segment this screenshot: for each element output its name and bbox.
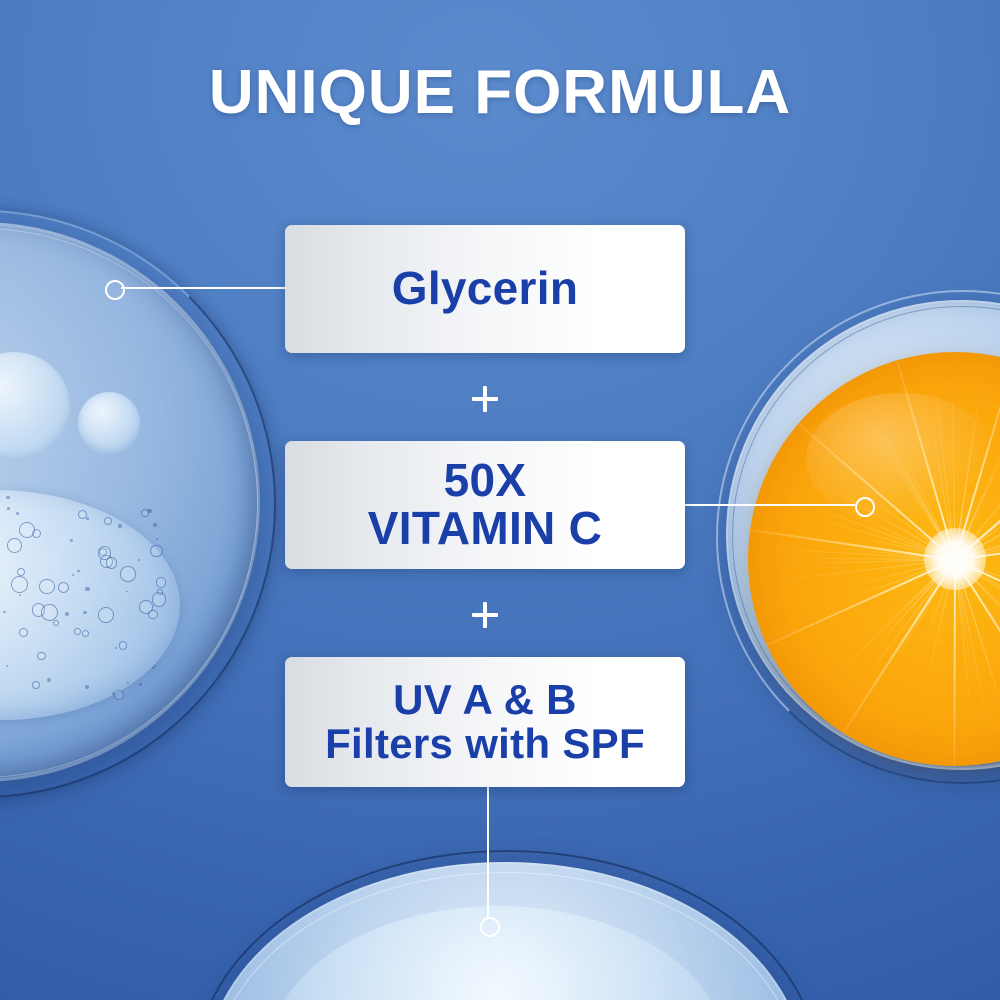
ingredient-label-vitamin-c: 50X VITAMIN C bbox=[368, 457, 602, 553]
ingredient-label-uv-spf-line1: UV A & B bbox=[393, 676, 577, 723]
gel-bubble bbox=[98, 546, 111, 559]
gel-micro-bubble bbox=[65, 612, 69, 616]
gel-micro-bubble bbox=[19, 594, 21, 596]
gel-micro-bubble bbox=[83, 611, 87, 615]
gel-micro-bubble bbox=[127, 682, 130, 685]
gel-micro-bubble bbox=[85, 587, 89, 591]
gel-bubble bbox=[39, 579, 55, 595]
ingredient-label-vitamin-c-line2: VITAMIN C bbox=[368, 502, 602, 554]
gel-bubble bbox=[150, 545, 162, 557]
gel-bubble bbox=[98, 607, 114, 623]
gel-micro-bubble bbox=[6, 665, 8, 667]
clear-gel-petri-dish-inner-rim bbox=[214, 872, 798, 1000]
gel-micro-bubble bbox=[85, 685, 89, 689]
gel-micro-bubble bbox=[47, 678, 51, 682]
gel-micro-bubble bbox=[3, 611, 6, 614]
gel-bubble bbox=[17, 568, 25, 576]
gel-micro-bubble bbox=[118, 524, 122, 528]
gel-bubble bbox=[7, 538, 23, 554]
gel-micro-bubble bbox=[70, 539, 73, 542]
connector-dot-vitamin-c bbox=[855, 497, 875, 517]
gel-micro-bubble bbox=[156, 538, 158, 540]
gel-droplet-small bbox=[78, 392, 140, 454]
ingredient-card-uv-spf[interactable]: UV A & B Filters with SPF bbox=[285, 657, 685, 787]
gel-micro-bubble bbox=[126, 591, 128, 593]
gel-micro-bubble bbox=[77, 570, 79, 572]
infographic-canvas: UNIQUE FORMULA Glycerin 50X VITAMIN C UV… bbox=[0, 0, 1000, 1000]
ingredient-label-uv-spf: UV A & B Filters with SPF bbox=[325, 678, 645, 765]
gel-bubble bbox=[19, 628, 28, 637]
gel-bubble bbox=[156, 577, 167, 588]
gel-micro-bubble bbox=[86, 517, 89, 520]
plus-separator-2 bbox=[472, 602, 498, 628]
gel-bubble bbox=[74, 628, 81, 635]
ingredient-card-vitamin-c[interactable]: 50X VITAMIN C bbox=[285, 441, 685, 569]
gel-bubble bbox=[11, 576, 28, 593]
gel-bubble bbox=[37, 652, 45, 660]
connector-dot-uv-spf bbox=[480, 917, 500, 937]
connector-line-glycerin bbox=[121, 287, 287, 289]
gel-bubble bbox=[53, 620, 59, 626]
gel-bubble bbox=[82, 630, 89, 637]
ingredient-label-glycerin: Glycerin bbox=[392, 265, 579, 313]
gel-bubble bbox=[148, 610, 157, 619]
ingredient-card-glycerin[interactable]: Glycerin bbox=[285, 225, 685, 353]
gel-micro-bubble bbox=[139, 683, 142, 686]
gel-micro-bubble bbox=[115, 647, 117, 649]
gel-bubble bbox=[104, 517, 112, 525]
connector-line-vitamin-c bbox=[685, 504, 855, 506]
gel-bubble bbox=[41, 604, 58, 621]
orange-segment-divider bbox=[953, 560, 956, 766]
gel-bubble bbox=[32, 681, 40, 689]
gel-micro-bubble bbox=[7, 507, 10, 510]
plus-separator-1 bbox=[472, 386, 498, 412]
gel-bubble bbox=[119, 641, 127, 649]
gel-bubble bbox=[141, 509, 149, 517]
gel-micro-bubble bbox=[153, 523, 157, 527]
connector-line-uv-spf bbox=[487, 787, 489, 919]
gel-micro-bubble bbox=[138, 559, 140, 561]
gel-bubble bbox=[157, 589, 163, 595]
page-title: UNIQUE FORMULA bbox=[0, 62, 1000, 124]
ingredient-label-vitamin-c-line1: 50X bbox=[444, 454, 527, 506]
ingredient-label-uv-spf-line2: Filters with SPF bbox=[325, 720, 645, 767]
orange-pulp-strand bbox=[892, 559, 955, 667]
gel-bubble bbox=[120, 566, 136, 582]
gel-micro-bubble bbox=[152, 667, 154, 669]
gel-micro-bubble bbox=[6, 496, 9, 499]
gel-micro-bubble bbox=[16, 512, 19, 515]
gel-micro-bubble bbox=[72, 574, 74, 576]
gel-bubble bbox=[58, 582, 69, 593]
connector-dot-glycerin bbox=[105, 280, 125, 300]
